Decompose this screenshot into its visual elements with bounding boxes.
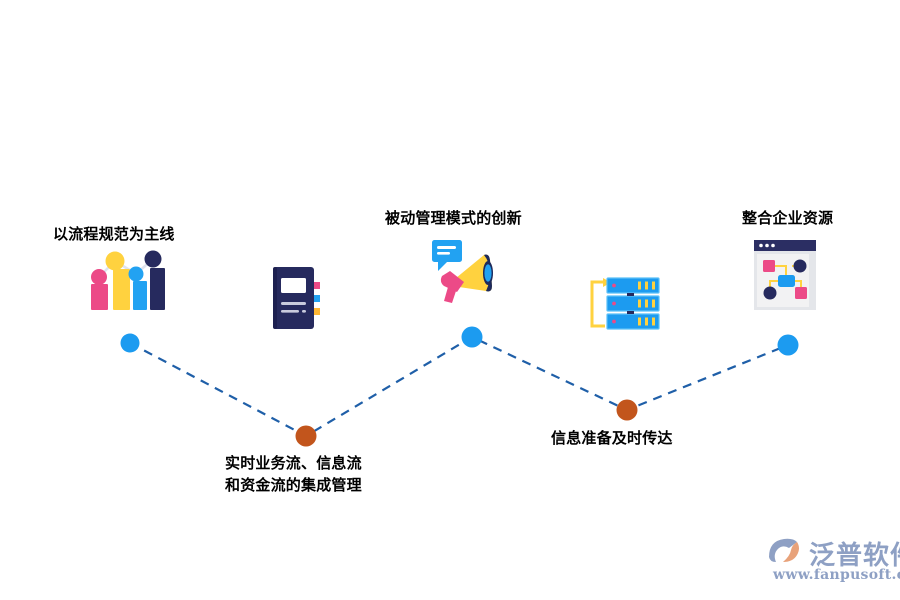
milestone-marker-4[interactable] xyxy=(617,400,638,421)
milestone-marker-2[interactable] xyxy=(296,426,317,447)
megaphone-announcement-icon xyxy=(426,238,500,304)
node-label-2: 实时业务流、信息流 和资金流的集成管理 xyxy=(225,453,362,497)
bar-chart-people-icon xyxy=(84,250,168,316)
milestone-marker-3[interactable] xyxy=(462,327,483,348)
fanpu-leaf-logo-icon xyxy=(767,535,807,567)
connector-polyline xyxy=(130,337,788,436)
server-stack-icon xyxy=(583,276,661,332)
diagram-canvas: 以流程规范为主线 实时业务流、信息流 和资金流的集成管理 xyxy=(0,0,900,600)
node-label-1: 以流程规范为主线 xyxy=(53,224,175,246)
node-label-4: 信息准备及时传达 xyxy=(551,428,673,450)
node-label-3: 被动管理模式的创新 xyxy=(385,208,522,230)
notebook-icon xyxy=(270,264,324,332)
brand-watermark: 泛普软件 www.fanpusoft.com xyxy=(765,533,895,591)
milestone-marker-5[interactable] xyxy=(778,335,799,356)
node-label-5: 整合企业资源 xyxy=(742,208,833,230)
brand-url: www.fanpusoft.com xyxy=(773,567,900,583)
milestone-marker-1[interactable] xyxy=(121,334,140,353)
workflow-window-icon xyxy=(752,238,820,314)
